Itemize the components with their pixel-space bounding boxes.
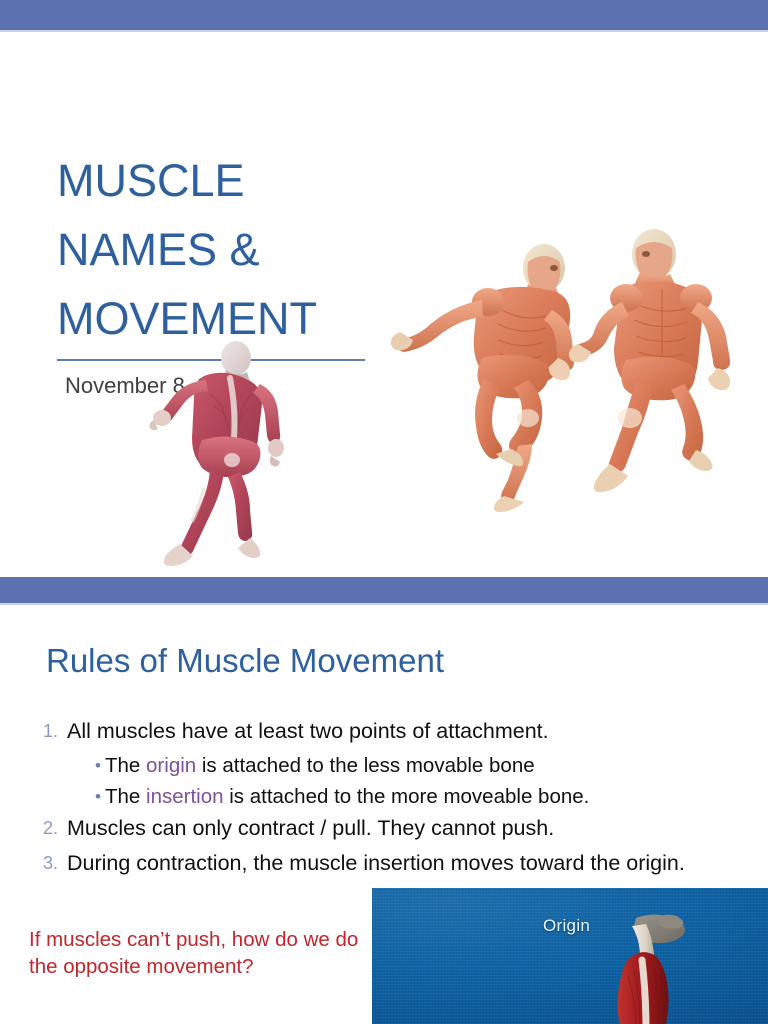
term-origin: origin [146,754,196,777]
list-number: 2. [33,812,67,845]
slide-rules-of-muscle-movement: Rules of Muscle Movement 1. All muscles … [0,605,768,1024]
list-item-text: Muscles can only contract / pull. They c… [67,812,733,845]
sub-list-item-text: The origin is attached to the less movab… [105,750,733,781]
term-insertion: insertion [146,785,224,808]
slide-separator-band [0,577,768,603]
sub-list-item-text: The insertion is attached to the more mo… [105,781,733,812]
bullet-icon: • [91,781,105,812]
posterior-muscle-figure [140,332,300,577]
list-item-text: During contraction, the muscle insertion… [67,847,733,880]
bullet-icon: • [91,750,105,781]
running-muscle-figures [378,218,768,513]
sub-list-item: • The insertion is attached to the more … [91,781,733,812]
sub-text-prefix: The [105,754,146,777]
list-number: 1. [33,715,67,748]
list-item: 3. During contraction, the muscle insert… [33,847,733,880]
page-title: MUSCLE NAMES & MOVEMENT [57,146,387,353]
sub-text-suffix: is attached to the less movable bone [196,754,534,777]
list-item: 1. All muscles have at least two points … [33,715,733,748]
list-item-text: All muscles have at least two points of … [67,715,733,748]
presentation-page: MUSCLE NAMES & MOVEMENT November 8, 2013 [0,0,768,1024]
muscle-origin-diagram: Origin [372,888,768,1024]
slide-title: MUSCLE NAMES & MOVEMENT November 8, 2013 [0,0,768,577]
rules-list: 1. All muscles have at least two points … [33,715,733,882]
sub-text-prefix: The [105,785,146,808]
discussion-question: If muscles can’t push, how do we do the … [29,926,359,980]
section-heading: Rules of Muscle Movement [46,642,444,680]
list-number: 3. [33,847,67,880]
sub-list-item: • The origin is attached to the less mov… [91,750,733,781]
list-item: 2. Muscles can only contract / pull. The… [33,812,733,845]
top-decor-band-shadow [0,30,768,32]
origin-label: Origin [543,916,590,936]
muscle-tendon-art [602,910,752,1024]
sub-text-suffix: is attached to the more moveable bone. [224,785,590,808]
top-decor-band [0,0,768,30]
